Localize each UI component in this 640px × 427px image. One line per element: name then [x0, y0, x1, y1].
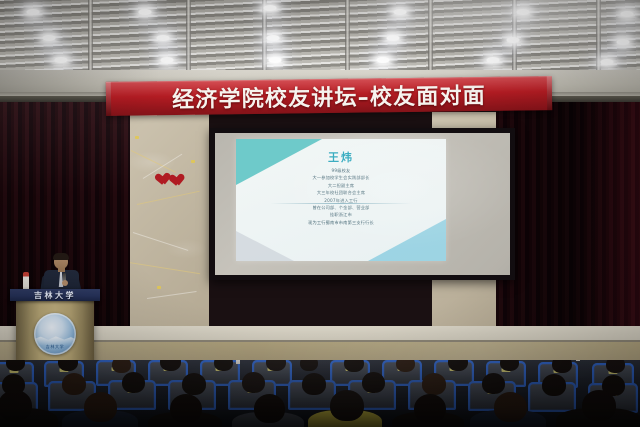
audience-head	[112, 360, 131, 373]
speaker-hand	[62, 280, 68, 286]
screen-surface: 王炜 99级校友 大一参加校学生会实践部部长 大二担副主席 大三年校社团联合会主…	[215, 133, 510, 275]
slide-divider	[270, 203, 412, 204]
auditorium-scene: 经济学院校友讲坛–校友面对面 王炜 99级校友 大一参加校学生会实践部部长 大二…	[0, 0, 640, 427]
audience-head	[494, 392, 527, 422]
slide-line: 大二担副主席	[236, 182, 446, 189]
heart-decoration	[166, 169, 180, 182]
slide-body: 99级校友 大一参加校学生会实践部部长 大二担副主席 大三年校社团联合会主席 2…	[236, 167, 446, 226]
confetti-dot	[191, 160, 195, 163]
audience-head	[254, 394, 285, 423]
audience-head	[582, 390, 616, 421]
water-bottle	[236, 360, 240, 364]
audience-head	[414, 394, 446, 423]
slide-line: 99级校友	[236, 167, 446, 174]
audience-head	[422, 373, 446, 395]
audience-head	[84, 392, 117, 422]
wall-crack	[147, 291, 197, 299]
ceiling	[0, 0, 640, 72]
audience-head	[330, 390, 364, 421]
audience-head	[302, 373, 326, 395]
presentation-slide: 王炜 99级校友 大一参加校学生会实践部部长 大二担副主席 大三年校社团联合会主…	[236, 139, 446, 261]
speaker-hair	[53, 253, 69, 260]
slide-line: 曾在公司部、个金部、营业部	[236, 204, 446, 211]
wall-panel-left	[127, 112, 209, 340]
confetti-dot	[135, 136, 139, 139]
audience-head	[170, 394, 202, 423]
audience-head	[606, 360, 625, 373]
audience-head	[542, 374, 566, 396]
slide-corner-grey	[236, 231, 294, 261]
wall-streak	[129, 262, 200, 274]
stage-curtain-right	[496, 96, 640, 346]
audience-head	[122, 372, 145, 393]
water-bottle	[576, 360, 580, 361]
slide-title: 王炜	[236, 149, 446, 165]
slide-line: 现为工行蜀南市市南第三支行行长	[236, 219, 446, 226]
audience-head	[242, 372, 265, 393]
slide-line: 大三年校社团联合会主席	[236, 189, 446, 196]
podium-plaque: 吉林大学	[10, 289, 100, 301]
ceiling-glow	[0, 0, 640, 72]
audience-head	[0, 390, 32, 421]
curtain-shading	[496, 96, 640, 346]
podium-plaque-text: 吉林大学	[10, 289, 100, 301]
banner-edge	[106, 82, 111, 116]
audience-head	[182, 373, 206, 395]
projection-screen: 王炜 99级校友 大一参加校学生会实践部部长 大二担副主席 大三年校社团联合会主…	[210, 128, 515, 280]
audience-head	[482, 373, 505, 394]
wall-streak	[137, 191, 200, 205]
event-banner: 经济学院校友讲坛–校友面对面	[106, 76, 552, 116]
confetti-dot	[157, 286, 161, 289]
banner-edge	[547, 76, 552, 110]
banner-title: 经济学院校友讲坛–校友面对面	[172, 78, 486, 114]
slide-line: 大一参加校学生会实践部部长	[236, 174, 446, 181]
wall-crack	[133, 232, 188, 251]
audience-head	[62, 373, 86, 395]
heart-decoration	[152, 168, 166, 181]
audience-area	[0, 360, 640, 427]
audience-head	[362, 372, 385, 393]
slide-line: 挂职浙江市	[236, 211, 446, 218]
audience-head	[300, 360, 318, 371]
